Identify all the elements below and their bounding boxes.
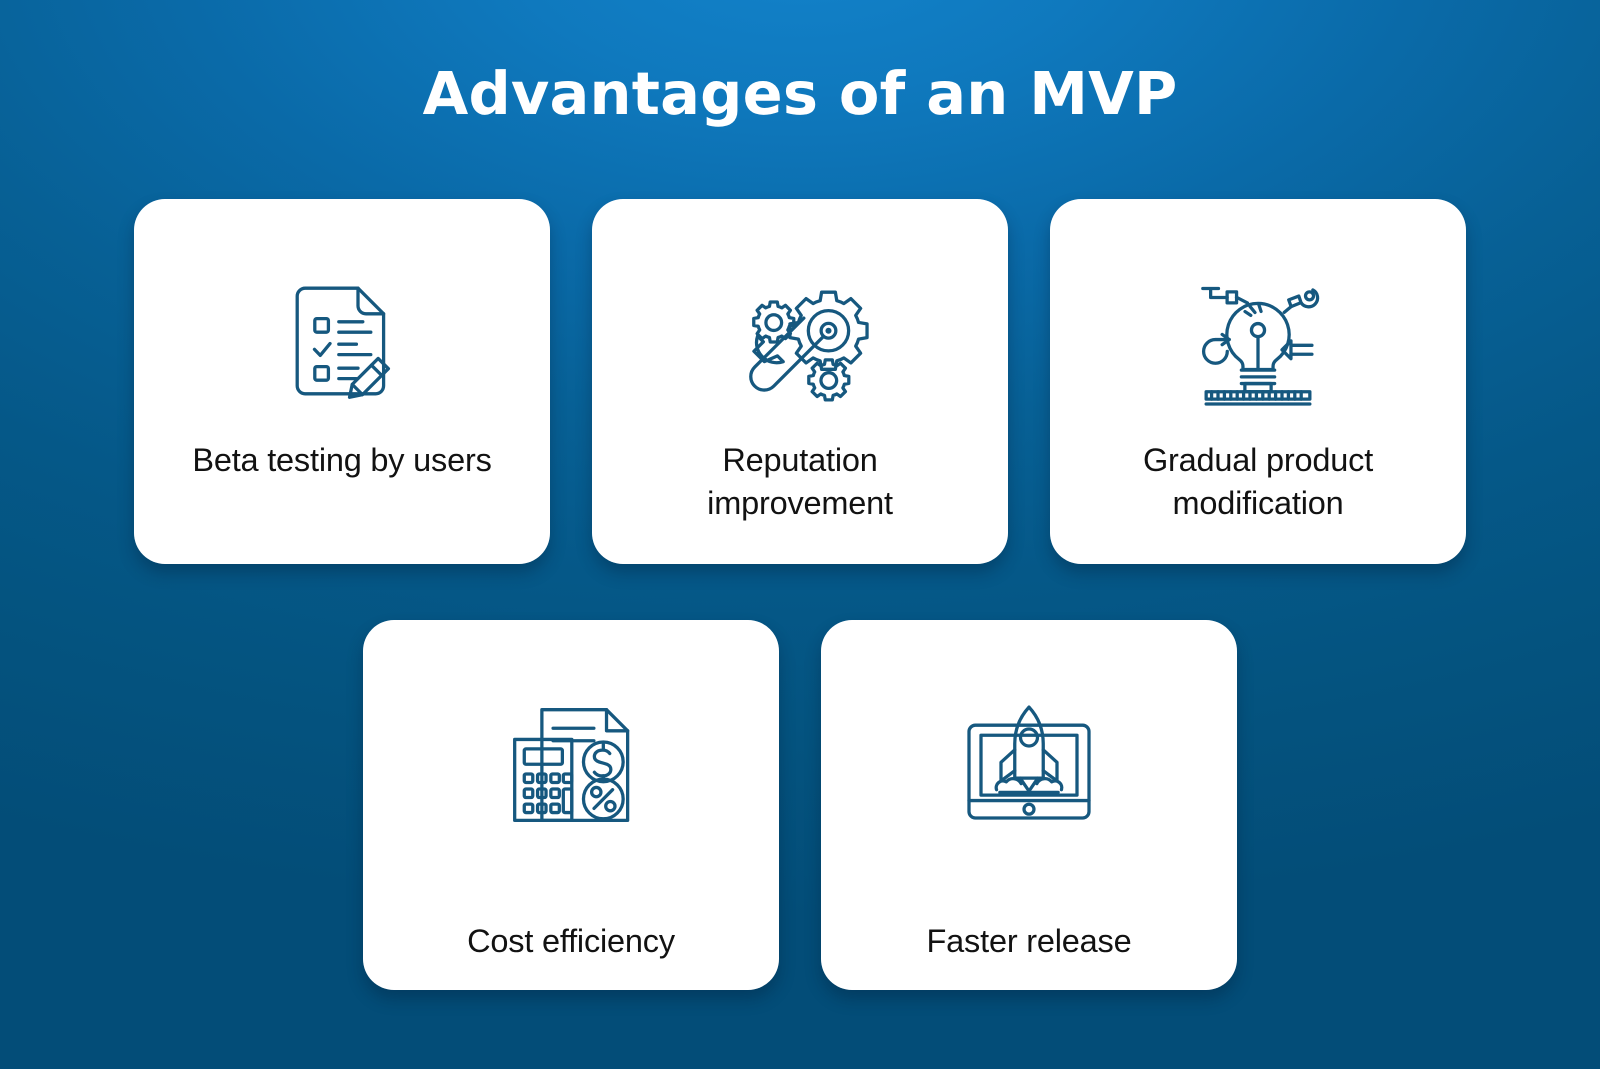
card-row-bottom: Cost efficiency [0,620,1600,990]
card-label: Gradual product modification [1088,439,1428,524]
card-faster-release[interactable]: Faster release [821,620,1237,990]
card-label: Reputation improvement [630,439,970,524]
card-label: Faster release [859,920,1199,963]
wrench-gears-icon [720,261,880,421]
checklist-document-pencil-icon [262,261,422,421]
card-label: Cost efficiency [401,920,741,963]
card-row-top: Beta testing by users [0,199,1600,564]
header: Advantages of an MVP [0,0,1600,186]
advantages-card-grid: Beta testing by users [0,186,1600,1069]
card-label: Beta testing by users [172,439,512,482]
rocket-laptop-icon [949,686,1109,846]
card-gradual-modification[interactable]: Gradual product modification [1050,199,1466,564]
calculator-invoice-dollar-percent-icon [491,686,651,846]
card-reputation-improvement[interactable]: Reputation improvement [592,199,1008,564]
page-title: Advantages of an MVP [423,64,1178,123]
card-cost-efficiency[interactable]: Cost efficiency [363,620,779,990]
card-beta-testing[interactable]: Beta testing by users [134,199,550,564]
lightbulb-robotic-arms-icon [1178,261,1338,421]
